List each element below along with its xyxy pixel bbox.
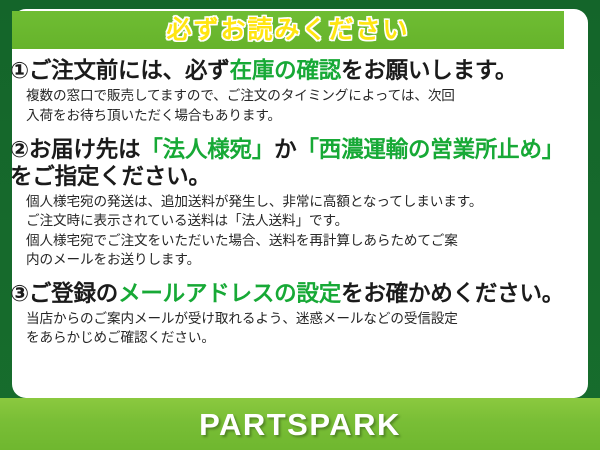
section-3-body-line-1: 当店からのご案内メールが受け取れるよう、迷惑メールなどの受信設定	[26, 309, 566, 328]
section-2-heading-highlight-1: 「法人様宛」	[140, 137, 274, 162]
section-3-heading-part-1: ③ご登録の	[10, 281, 118, 306]
notice-section-2: ②お届け先は「法人様宛」か「西濃運輸の営業所止め」 をご指定ください。 個人様宅…	[10, 137, 566, 269]
footer-bar: PARTSPARK	[0, 398, 600, 450]
section-1-heading: ①ご注文前には、必ず在庫の確認をお願いします。	[10, 58, 566, 84]
notice-section-3: ③ご登録のメールアドレスの設定をお確かめください。 当店からのご案内メールが受け…	[10, 281, 566, 348]
section-1-body-line-1: 複数の窓口で販売してますので、ご注文のタイミングによっては、次回	[26, 86, 566, 105]
section-2-body-line-1: 個人様宅宛の発送は、追加送料が発生し、非常に高額となってしまいます。	[26, 192, 566, 211]
notice-body: ①ご注文前には、必ず在庫の確認をお願いします。 複数の窓口で販売してますので、ご…	[0, 58, 576, 350]
section-3-heading-part-3: をお確かめください。	[341, 281, 564, 306]
section-1-heading-part-1: ①ご注文前には、必ず	[10, 58, 230, 83]
section-2-body: 個人様宅宛の発送は、追加送料が発生し、非常に高額となってしまいます。 ご注文時に…	[26, 192, 566, 270]
section-1-body: 複数の窓口で販売してますので、ご注文のタイミングによっては、次回 入荷をお待ち頂…	[26, 86, 566, 125]
section-2-heading-line-2: をご指定ください。	[10, 164, 566, 190]
section-2-body-line-4: 内のメールをお送りします。	[26, 250, 566, 269]
section-2-heading: ②お届け先は「法人様宛」か「西濃運輸の営業所止め」 をご指定ください。	[10, 137, 566, 190]
brand-logo: PARTSPARK	[199, 409, 401, 440]
section-3-heading: ③ご登録のメールアドレスの設定をお確かめください。	[10, 281, 566, 307]
section-2-heading-highlight-2: 「西濃運輸の営業所止め」	[296, 137, 564, 162]
section-1-body-line-2: 入荷をお待ち頂いただく場合もあります。	[26, 106, 566, 125]
section-1-heading-highlight: 在庫の確認	[230, 58, 342, 83]
header-banner: 必ずお読みください	[12, 11, 564, 49]
section-2-body-line-3: 個人様宅宛でご注文をいただいた場合、送料を再計算しあらためてご案	[26, 231, 566, 250]
page-title: 必ずお読みください	[166, 18, 409, 43]
section-3-heading-highlight: メールアドレスの設定	[118, 281, 341, 306]
section-3-body: 当店からのご案内メールが受け取れるよう、迷惑メールなどの受信設定 をあらかじめご…	[26, 309, 566, 348]
section-2-heading-part-1: ②お届け先は	[10, 137, 140, 162]
notice-section-1: ①ご注文前には、必ず在庫の確認をお願いします。 複数の窓口で販売してますので、ご…	[10, 58, 566, 125]
notice-banner: 必ずお読みください ①ご注文前には、必ず在庫の確認をお願いします。 複数の窓口で…	[0, 0, 600, 450]
section-2-heading-part-3: か	[274, 137, 296, 162]
section-2-body-line-2: ご注文時に表示されている送料は「法人送料」です。	[26, 211, 566, 230]
section-1-heading-part-3: をお願いします。	[341, 58, 517, 83]
section-3-body-line-2: をあらかじめご確認ください。	[26, 328, 566, 347]
